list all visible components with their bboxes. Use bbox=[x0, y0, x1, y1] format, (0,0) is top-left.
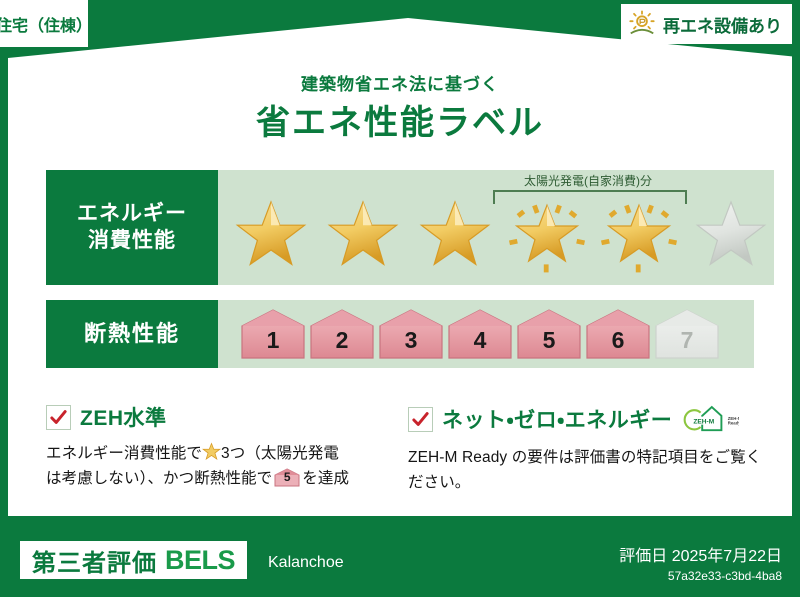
certificate-uid: 57a32e33-c3bd-4ba8 bbox=[619, 569, 782, 583]
insulation-grade-1-value: 1 bbox=[240, 327, 306, 354]
insulation-performance-body: 1 2 3 bbox=[218, 300, 754, 368]
net-zero-title: ネット・ゼロ・エネルギー bbox=[442, 404, 672, 434]
category-tag-label: 住宅（住棟） bbox=[0, 12, 92, 36]
energy-label-line1: エネルギー bbox=[77, 201, 187, 228]
energy-star-3 bbox=[412, 194, 498, 274]
solar-contribution-note: 太陽光発電(自家消費)分 bbox=[490, 172, 686, 189]
check-icon bbox=[49, 408, 68, 427]
renewable-energy-badge-label: 再エネ設備あり bbox=[663, 12, 782, 37]
renewable-energy-badge: 再エネ設備あり bbox=[621, 4, 792, 44]
insulation-grade-scale: 1 2 3 bbox=[218, 308, 720, 360]
zeh-desc-part3: を達成 bbox=[302, 470, 349, 487]
svg-text:ZEH-M: ZEH-M bbox=[694, 418, 715, 425]
insulation-grade-5: 5 bbox=[516, 308, 582, 360]
energy-label-line2: 消費性能 bbox=[88, 228, 176, 255]
property-name: Kalanchoe bbox=[268, 554, 344, 572]
zeh-standard-title: ZEH水準 bbox=[80, 402, 167, 432]
insulation-performance-label: 断熱性能 bbox=[46, 300, 218, 368]
zeh-standard-description: エネルギー消費性能で3つ（太陽光発電 は考慮しない）、かつ断熱性能で5を達成 bbox=[46, 441, 406, 491]
zeh-desc-part1: エネルギー消費性能で bbox=[46, 445, 202, 462]
criteria-zeh-header: ZEH水準 bbox=[46, 402, 406, 432]
inline-grade-value: 5 bbox=[274, 468, 300, 487]
solar-sun-icon bbox=[627, 9, 657, 39]
svg-text:Ready: Ready bbox=[728, 421, 739, 426]
net-zero-checkbox[interactable] bbox=[408, 407, 433, 432]
insulation-grade-4: 4 bbox=[447, 308, 513, 360]
insulation-grade-7-value: 7 bbox=[654, 327, 720, 354]
criteria-net-zero-header: ネット・ゼロ・エネルギー ZEH-M ZEH-M Ready bbox=[408, 402, 764, 436]
bels-logo-box: 第三者評価 BELS bbox=[20, 541, 247, 579]
evaluation-date: 評価日 2025年7月22日 bbox=[619, 542, 782, 566]
page-title: 省エネ性能ラベル bbox=[0, 95, 800, 144]
energy-star-4-solar bbox=[504, 194, 590, 274]
energy-star-2 bbox=[320, 194, 406, 274]
energy-star-rating bbox=[218, 194, 774, 274]
energy-star-6-empty bbox=[688, 194, 774, 274]
zeh-desc-part2: は考慮しない）、かつ断熱性能で bbox=[46, 470, 272, 487]
zeh-standard-checkbox[interactable] bbox=[46, 405, 71, 430]
insulation-grade-6-value: 6 bbox=[585, 327, 651, 354]
insulation-performance-row: 断熱性能 1 2 bbox=[46, 300, 754, 368]
insulation-grade-5-value: 5 bbox=[516, 327, 582, 354]
insulation-grade-3: 3 bbox=[378, 308, 444, 360]
label-subtitle: 建築物省エネ法に基づく bbox=[0, 70, 800, 95]
net-zero-description: ZEH-M Ready の要件は評価書の特記項目をご覧ください。 bbox=[408, 445, 764, 495]
insulation-grade-2: 2 bbox=[309, 308, 375, 360]
insulation-grade-1: 1 bbox=[240, 308, 306, 360]
insulation-grade-3-value: 3 bbox=[378, 327, 444, 354]
bels-en-label: BELS bbox=[165, 545, 235, 576]
insulation-label-text: 断熱性能 bbox=[84, 320, 180, 348]
energy-star-5-solar bbox=[596, 194, 682, 274]
criteria-net-zero-energy: ネット・ゼロ・エネルギー ZEH-M ZEH-M Ready ZEH-M Rea… bbox=[408, 402, 764, 495]
energy-performance-label: エネルギー 消費性能 bbox=[46, 170, 218, 285]
energy-performance-row: エネルギー 消費性能 太陽光発電(自家消費)分 bbox=[46, 170, 754, 285]
criteria-zeh-standard: ZEH水準 エネルギー消費性能で3つ（太陽光発電 は考慮しない）、かつ断熱性能で… bbox=[46, 402, 406, 491]
zeh-desc-stars: 3つ（太陽光発電 bbox=[221, 445, 339, 462]
category-tag: 住宅（住棟） bbox=[0, 0, 88, 47]
insulation-grade-6: 6 bbox=[585, 308, 651, 360]
bels-energy-label: 住宅（住棟） 再エネ設備あり 建築物省エネ法に基づく 省エネ性能ラベル エネルギ… bbox=[0, 0, 800, 597]
insulation-grade-4-value: 4 bbox=[447, 327, 513, 354]
inline-grade-badge: 5 bbox=[274, 468, 300, 487]
inline-star-icon bbox=[202, 442, 221, 461]
footer-meta: 評価日 2025年7月22日 57a32e33-c3bd-4ba8 bbox=[619, 542, 782, 583]
check-icon bbox=[411, 410, 430, 429]
bels-jp-label: 第三者評価 bbox=[32, 543, 157, 578]
insulation-grade-7-inactive: 7 bbox=[654, 308, 720, 360]
zeh-m-ready-logo-icon: ZEH-M ZEH-M Ready bbox=[683, 402, 739, 436]
insulation-grade-2-value: 2 bbox=[309, 327, 375, 354]
energy-star-1 bbox=[228, 194, 314, 274]
energy-performance-body: 太陽光発電(自家消費)分 bbox=[218, 170, 774, 285]
